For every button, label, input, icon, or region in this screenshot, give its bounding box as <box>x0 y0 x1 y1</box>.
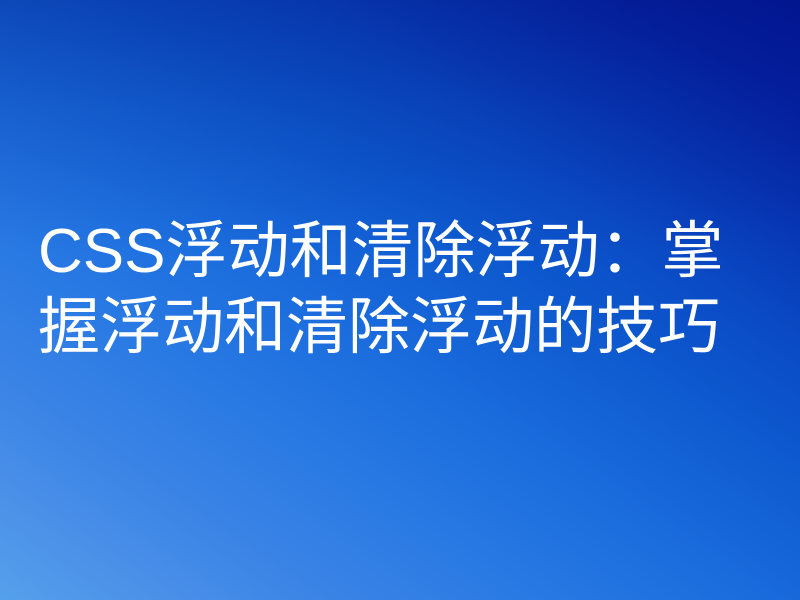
title-block: CSS浮动和清除浮动：掌握浮动和清除浮动的技巧 <box>38 214 764 366</box>
title-banner: CSS浮动和清除浮动：掌握浮动和清除浮动的技巧 <box>0 0 800 600</box>
page-title: CSS浮动和清除浮动：掌握浮动和清除浮动的技巧 <box>38 214 764 366</box>
